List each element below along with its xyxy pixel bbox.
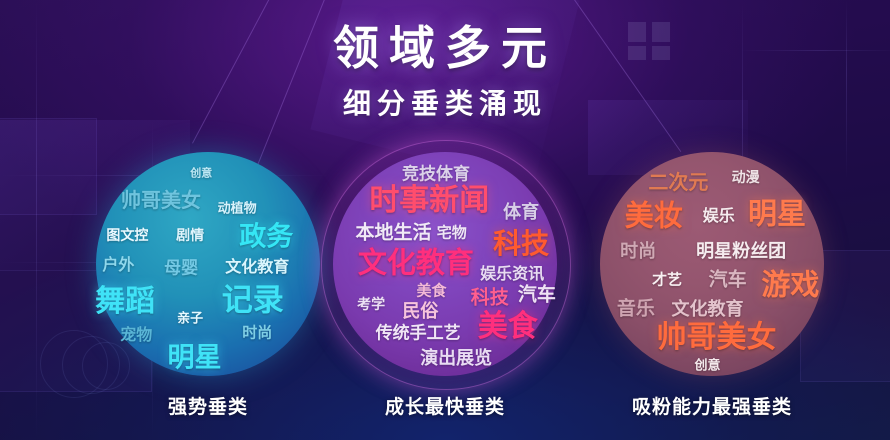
wordcloud-word: 文化教育: [672, 300, 744, 318]
wordcloud-word: 户外: [102, 258, 134, 274]
wordcloud-word: 记录: [222, 284, 284, 315]
wordcloud-word: 音乐: [617, 299, 655, 318]
wordcloud-word: 帅哥美女: [121, 191, 201, 211]
caption-group-3: 吸粉能力最强垂类: [562, 392, 862, 419]
wordcloud-word: 帅哥美女: [656, 323, 776, 353]
wordcloud-word: 美食: [417, 283, 447, 298]
wordcloud-word: 文化教育: [225, 260, 289, 276]
wordcloud-group-3: 二次元动漫美妆娱乐明星时尚明星粉丝团才艺汽车游戏音乐文化教育帅哥美女创意: [600, 152, 824, 376]
wordcloud-word: 科技: [493, 230, 549, 258]
wordcloud-word: 民俗: [402, 302, 438, 320]
title-block: 领域多元 细分垂类涌现: [0, 24, 890, 122]
wordcloud-word: 游戏: [761, 272, 819, 301]
wordcloud-word: 剧情: [176, 228, 204, 242]
wordcloud-word: 明星: [748, 200, 806, 229]
page-subtitle: 细分垂类涌现: [0, 82, 890, 122]
wordcloud-word: 图文控: [106, 228, 148, 242]
wordcloud-word: 亲子: [177, 311, 203, 324]
wordcloud-word: 创意: [190, 169, 212, 180]
wordcloud-word: 舞蹈: [95, 287, 155, 317]
slide-canvas: 领域多元 细分垂类涌现 创意帅哥美女动植物图文控剧情政务户外母婴文化教育舞蹈记录…: [0, 0, 890, 440]
wordcloud-word: 二次元: [648, 173, 708, 193]
wordcloud-word: 时尚: [242, 326, 272, 341]
wordcloud-group-1: 创意帅哥美女动植物图文控剧情政务户外母婴文化教育舞蹈记录亲子宠物时尚明星: [96, 152, 320, 376]
bg-rect-upper-left: [0, 118, 97, 215]
wordcloud-word: 科技: [471, 288, 509, 307]
wordcloud-word: 本地生活: [355, 223, 431, 242]
wordcloud-word: 汽车: [709, 270, 747, 289]
wordcloud-word: 美妆: [625, 202, 683, 231]
wordcloud-word: 明星粉丝团: [696, 242, 786, 260]
wordcloud-word: 动植物: [218, 202, 257, 215]
wordcloud-word: 娱乐资讯: [480, 267, 544, 283]
wordcloud-word: 演出展览: [420, 349, 492, 367]
wordcloud-word: 文化教育: [358, 250, 474, 279]
page-title: 领域多元: [0, 24, 890, 74]
wordcloud-word: 创意: [695, 358, 721, 371]
wordcloud-word: 竞技体育: [402, 166, 470, 183]
wordcloud-word: 娱乐: [703, 209, 735, 225]
wordcloud-word: 传统手工艺: [376, 325, 461, 342]
wordcloud-word: 才艺: [652, 272, 682, 287]
wordcloud-word: 时事新闻: [369, 186, 489, 216]
wordcloud-word: 宅物: [437, 225, 467, 240]
caption-group-2: 成长最快垂类: [295, 392, 595, 419]
wordcloud-word: 政务: [239, 224, 293, 251]
wordcloud-word: 体育: [503, 203, 539, 221]
wordcloud-word: 宠物: [120, 328, 152, 344]
wordcloud-group-2: 竞技体育时事新闻体育本地生活宅物科技文化教育娱乐资讯美食科技汽车考学民俗美食传统…: [333, 152, 557, 376]
wordcloud-word: 美食: [478, 312, 538, 342]
wordcloud-word: 考学: [357, 297, 385, 311]
wordcloud-word: 时尚: [620, 242, 656, 260]
wordcloud-word: 汽车: [518, 286, 556, 305]
wordcloud-word: 明星: [168, 345, 222, 372]
wordcloud-word: 动漫: [732, 170, 760, 184]
wordcloud-word: 母婴: [164, 260, 198, 277]
